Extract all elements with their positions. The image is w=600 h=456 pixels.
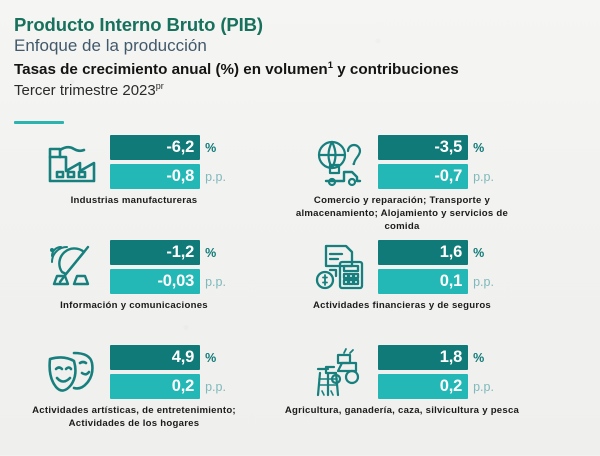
header: Producto Interno Bruto (PIB) Enfoque de … xyxy=(14,14,600,100)
value-bars: -3,5%-0,7p.p. xyxy=(378,135,494,189)
sector-label: Industrias manufactureras xyxy=(0,195,268,208)
growth-rate-bar: 1,6 xyxy=(378,240,468,265)
points-unit-label: p.p. xyxy=(205,380,226,394)
points-unit-label: p.p. xyxy=(205,275,226,289)
percent-unit-label: % xyxy=(473,351,484,365)
growth-rate-row: 4,9% xyxy=(110,345,226,370)
contribution-bar: -0,8 xyxy=(110,164,200,189)
growth-rate-bar: -3,5 xyxy=(378,135,468,160)
sector-label: Agricultura, ganadería, caza, silvicultu… xyxy=(268,405,536,418)
sector-label: Actividades artísticas, de entretenimien… xyxy=(0,405,268,431)
growth-rate-bar: 4,9 xyxy=(110,345,200,370)
satellite-dish-icon xyxy=(42,239,102,295)
contribution-bar: 0,1 xyxy=(378,269,468,294)
growth-rate-bar: -6,2 xyxy=(110,135,200,160)
reference-period: Tercer trimestre 2023pr xyxy=(14,81,600,100)
contribution-row: -0,8p.p. xyxy=(110,164,226,189)
growth-rate-row: 1,8% xyxy=(378,345,494,370)
sector-card: -1,2%-0,03p.p.Información y comunicacion… xyxy=(0,236,268,341)
growth-rate-bar: -1,2 xyxy=(110,240,200,265)
value-bars: 1,6%0,1p.p. xyxy=(378,240,494,294)
sector-label: Explotac xyxy=(536,405,600,418)
contribution-row: 0,1p.p. xyxy=(378,269,494,294)
factory-icon xyxy=(42,134,102,190)
points-unit-label: p.p. xyxy=(473,170,494,184)
sector-label: Actividades financieras y de seguros xyxy=(268,300,536,313)
value-bars: 4,9%0,2p.p. xyxy=(110,345,226,399)
percent-unit-label: % xyxy=(205,246,216,260)
sector-grid: -6,2%-0,8p.p.Industrias manufactureras -… xyxy=(0,131,600,446)
sector-card: -3,5%-0,7p.p.Comercio y reparación; Tran… xyxy=(268,131,536,236)
contribution-bar: -0,7 xyxy=(378,164,468,189)
growth-rate-row: -6,2% xyxy=(110,135,226,160)
value-bars: 1,8%0,2p.p. xyxy=(378,345,494,399)
lead-text: Tasas de crecimiento anual (%) en volume… xyxy=(14,61,328,78)
sector-card: Suministro de aire acondici xyxy=(536,236,600,341)
sector-card xyxy=(536,131,600,236)
growth-rate-row: -1,2% xyxy=(110,240,226,265)
growth-rate-bar: 1,8 xyxy=(378,345,468,370)
page-subtitle: Enfoque de la producción xyxy=(14,36,600,57)
chart-lead-line: Tasas de crecimiento anual (%) en volume… xyxy=(14,60,600,79)
period-footnote-marker: pr xyxy=(156,81,164,91)
theater-masks-icon xyxy=(42,344,102,400)
points-unit-label: p.p. xyxy=(473,380,494,394)
sector-label: Comercio y reparación; Transporte y alma… xyxy=(268,195,536,234)
percent-unit-label: % xyxy=(473,246,484,260)
contribution-row: 0,2p.p. xyxy=(110,374,226,399)
value-bars: -6,2%-0,8p.p. xyxy=(110,135,226,189)
contribution-bar: 0,2 xyxy=(378,374,468,399)
globe-truck-icon xyxy=(310,134,370,190)
sector-label: Información y comunicaciones xyxy=(0,300,268,313)
lead-tail: y contribuciones xyxy=(333,61,459,78)
header-rule xyxy=(14,121,64,124)
contribution-row: 0,2p.p. xyxy=(378,374,494,399)
sector-card: Explotac xyxy=(536,341,600,456)
sector-card: 1,6%0,1p.p.Actividades financieras y de … xyxy=(268,236,536,341)
tractor-icon xyxy=(310,344,370,400)
percent-unit-label: % xyxy=(205,351,216,365)
points-unit-label: p.p. xyxy=(205,170,226,184)
period-text: Tercer trimestre 2023 xyxy=(14,82,156,99)
percent-unit-label: % xyxy=(205,141,216,155)
contribution-bar: 0,2 xyxy=(110,374,200,399)
contribution-row: -0,03p.p. xyxy=(110,269,226,294)
value-bars: -1,2%-0,03p.p. xyxy=(110,240,226,294)
growth-rate-row: 1,6% xyxy=(378,240,494,265)
contribution-bar: -0,03 xyxy=(110,269,200,294)
sector-card: -6,2%-0,8p.p.Industrias manufactureras xyxy=(0,131,268,236)
percent-unit-label: % xyxy=(473,141,484,155)
calculator-invoice-icon xyxy=(310,239,370,295)
page-title: Producto Interno Bruto (PIB) xyxy=(14,14,600,35)
sector-card: 4,9%0,2p.p.Actividades artísticas, de en… xyxy=(0,341,268,456)
growth-rate-row: -3,5% xyxy=(378,135,494,160)
contribution-row: -0,7p.p. xyxy=(378,164,494,189)
sector-label: Suministro de aire acondici xyxy=(536,300,600,313)
points-unit-label: p.p. xyxy=(473,275,494,289)
sector-card: 1,8%0,2p.p.Agricultura, ganadería, caza,… xyxy=(268,341,536,456)
